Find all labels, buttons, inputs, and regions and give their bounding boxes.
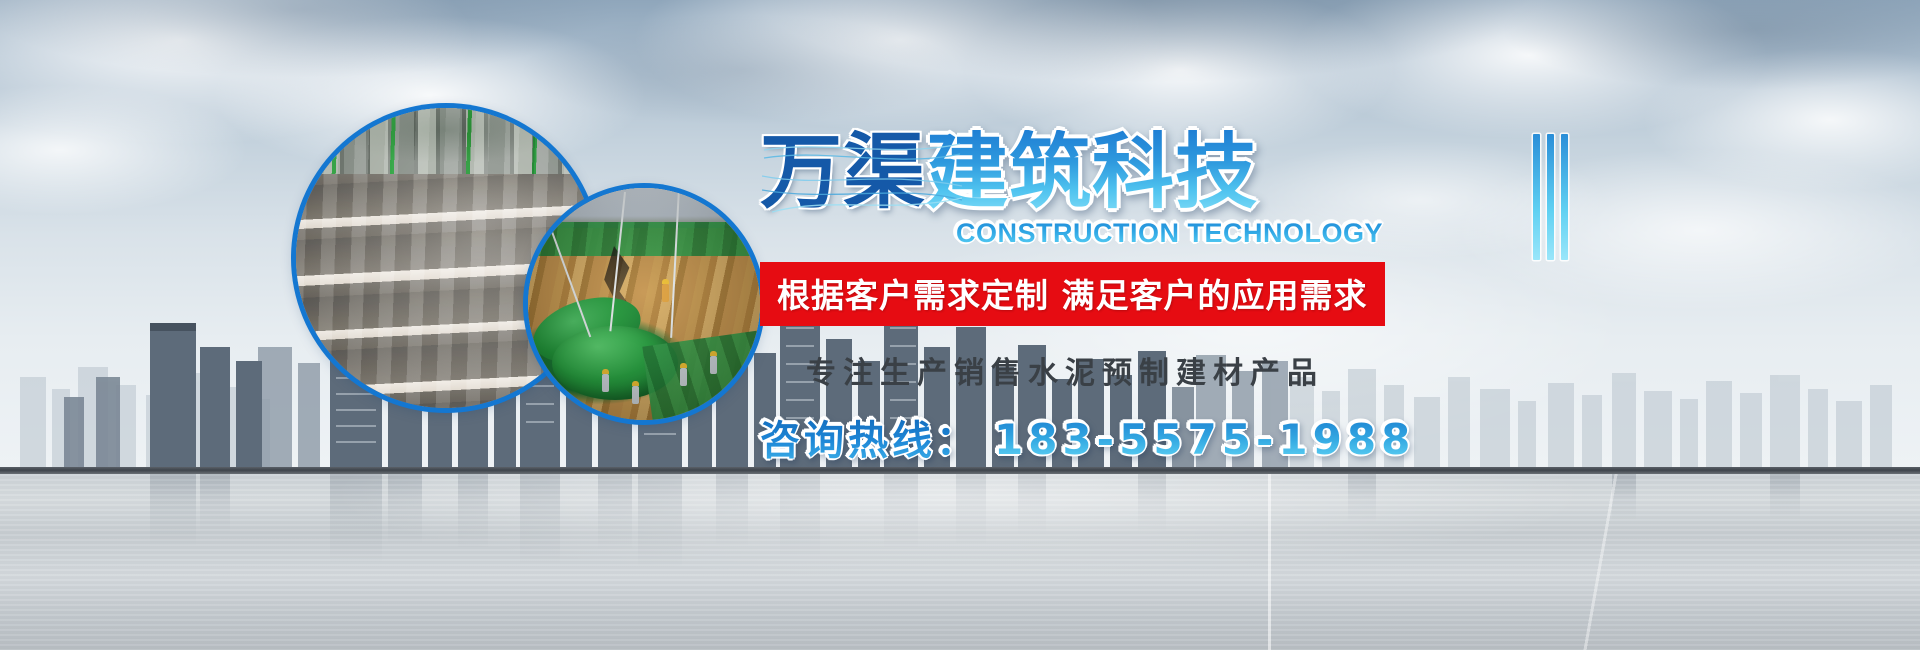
red-banner-text: 根据客户需求定制 满足客户的应用需求 bbox=[777, 276, 1368, 315]
red-highlight-banner: 根据客户需求定制 满足客户的应用需求 bbox=[760, 262, 1385, 326]
english-subtitle: CONSTRUCTION TECHNOLOGY bbox=[760, 218, 1560, 248]
crane-cable bbox=[670, 188, 680, 338]
trench-shadow bbox=[586, 246, 656, 366]
construction-worker bbox=[710, 356, 717, 374]
green-tarp bbox=[642, 330, 760, 420]
brand-name-secondary: 建筑科技 bbox=[926, 130, 1258, 216]
tank-body-rear bbox=[528, 286, 648, 374]
construction-worker bbox=[632, 386, 639, 404]
brand-name-primary: 万渠 bbox=[760, 130, 926, 216]
cinder-blocks bbox=[296, 108, 596, 174]
banner-text-block: 万渠 建筑科技 CONSTRUCTION TECHNOLOGY 根据客户需求定制… bbox=[760, 120, 1560, 540]
construction-worker bbox=[602, 374, 609, 392]
hotline-label: 咨询热线： bbox=[760, 408, 980, 466]
construction-worker bbox=[680, 368, 687, 386]
brand-title-row: 万渠 建筑科技 bbox=[760, 120, 1560, 216]
tagline-text: 专注生产销售水泥预制建材产品 bbox=[760, 348, 1560, 392]
accent-bar bbox=[1561, 134, 1568, 260]
green-septic-tank bbox=[552, 326, 678, 400]
site-sky bbox=[528, 188, 760, 228]
promotional-banner: 万渠 建筑科技 CONSTRUCTION TECHNOLOGY 根据客户需求定制… bbox=[0, 0, 1920, 650]
green-strapping bbox=[296, 108, 596, 174]
photo-septic-tank-installation bbox=[528, 188, 760, 420]
green-safety-mesh bbox=[528, 222, 760, 256]
crane-cable bbox=[609, 192, 626, 331]
hotline-number: 183-5575-1988 bbox=[994, 415, 1415, 464]
crane-cable bbox=[538, 196, 591, 338]
construction-worker bbox=[662, 284, 669, 302]
trench-installation-image bbox=[528, 188, 760, 420]
hotline-row: 咨询热线： 183-5575-1988 bbox=[760, 408, 1560, 466]
